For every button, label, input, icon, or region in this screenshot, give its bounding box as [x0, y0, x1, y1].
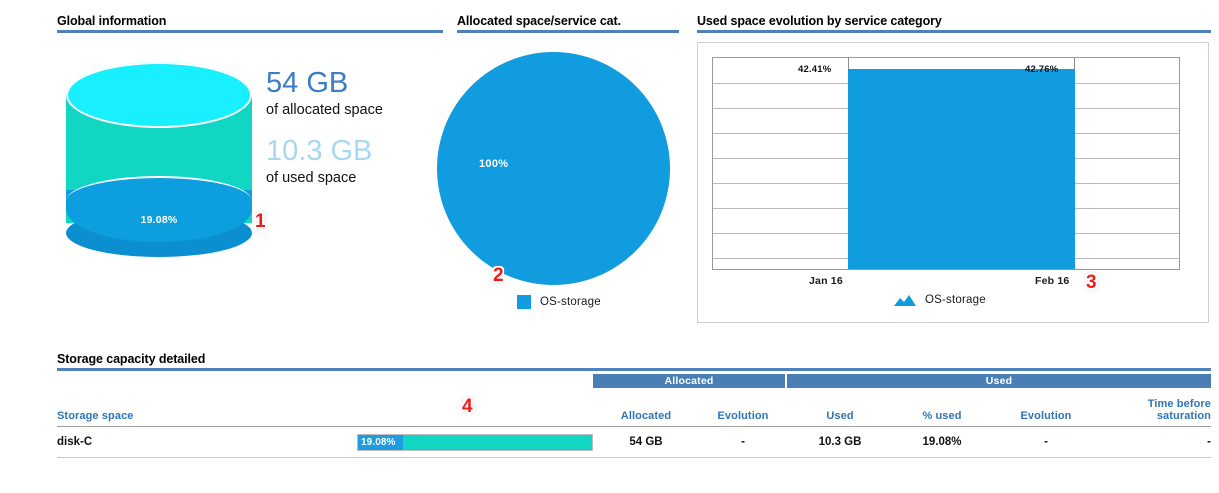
usage-progress-bar: 19.08%: [357, 434, 593, 451]
table-group-header-allocated: Allocated: [593, 374, 787, 388]
area-legend-label-os-storage: OS-storage: [925, 294, 986, 306]
cell-allocated-evolution: -: [699, 436, 787, 448]
section-title-allocated-cat: Allocated space/service cat.: [457, 14, 679, 28]
area-chart-plot-area: [712, 57, 1180, 270]
table-row[interactable]: disk-C 19.08% 54 GB - 10.3 GB 19.08% - -: [57, 427, 1211, 458]
pie-legend: OS-storage: [517, 295, 601, 309]
area-legend: OS-storage: [894, 294, 986, 306]
pie-legend-swatch-os-storage: [517, 295, 531, 309]
cell-time-before-saturation: -: [1101, 436, 1211, 448]
cylinder-percent-label: 19.08%: [66, 214, 252, 226]
cell-allocated: 54 GB: [593, 436, 699, 448]
allocated-space-stat: 54 GB of allocated space: [266, 66, 383, 118]
section-title-detailed: Storage capacity detailed: [57, 352, 1211, 366]
allocated-space-value: 54 GB: [266, 66, 383, 100]
table-column-used-evolution[interactable]: Evolution: [991, 388, 1101, 422]
section-header-global: Global information: [57, 14, 443, 33]
table-group-header-used: Used: [787, 374, 1211, 388]
cell-used-evolution: -: [991, 436, 1101, 448]
section-rule-allocated-cat: [457, 30, 679, 33]
area-point-label-jan: 42.41%: [798, 64, 831, 75]
storage-capacity-table: Allocated Used Storage space Allocated E…: [57, 374, 1211, 458]
area-point-label-feb: 42.76%: [1025, 64, 1058, 75]
used-space-stat: 10.3 GB of used space: [266, 134, 372, 186]
section-title-global: Global information: [57, 14, 443, 28]
section-header-allocated-cat: Allocated space/service cat.: [457, 14, 679, 33]
used-space-value: 10.3 GB: [266, 134, 372, 168]
section-header-detailed: Storage capacity detailed: [57, 352, 1211, 371]
allocated-space-pie-chart[interactable]: [437, 52, 670, 285]
table-column-pct-used[interactable]: % used: [893, 388, 991, 422]
cylinder-top-ellipse: [66, 62, 252, 128]
cell-usage-bar: 19.08%: [357, 434, 593, 451]
used-space-evolution-chart[interactable]: 42.41% 42.76% Jan 16 Feb 16 OS-storage: [697, 42, 1209, 323]
annotation-badge-3: 3: [1086, 272, 1097, 294]
allocated-space-caption: of allocated space: [266, 102, 383, 118]
section-rule-evolution: [697, 30, 1211, 33]
table-column-time-before-saturation[interactable]: Time before saturation: [1101, 388, 1211, 422]
annotation-badge-2: 2: [493, 265, 504, 287]
area-chart-icon: [894, 294, 916, 306]
cell-pct-used: 19.08%: [893, 436, 991, 448]
section-rule-detailed: [57, 368, 1211, 371]
pie-slice-label-os-storage: 100%: [479, 158, 508, 170]
table-header-row: Storage space Allocated Evolution Used %…: [57, 388, 1211, 426]
area-series-os-storage: [848, 69, 1075, 269]
table-column-usage-bar: [357, 388, 593, 410]
annotation-badge-1: 1: [255, 211, 266, 233]
section-rule-global: [57, 30, 443, 33]
table-group-spacer: [57, 374, 593, 388]
x-axis-tick-feb: Feb 16: [1035, 275, 1069, 287]
storage-cylinder-chart: 19.08%: [66, 62, 256, 247]
usage-bar-percent-label: 19.08%: [361, 435, 396, 450]
table-group-header-row: Allocated Used: [57, 374, 1211, 388]
section-header-evolution: Used space evolution by service category: [697, 14, 1211, 33]
table-column-storage-space[interactable]: Storage space: [57, 388, 357, 422]
pie-legend-label-os-storage: OS-storage: [540, 296, 601, 308]
x-axis-tick-jan: Jan 16: [809, 275, 843, 287]
table-column-allocated[interactable]: Allocated: [593, 388, 699, 422]
table-column-allocated-evolution[interactable]: Evolution: [699, 388, 787, 422]
section-title-evolution: Used space evolution by service category: [697, 14, 1211, 28]
used-space-caption: of used space: [266, 170, 372, 186]
table-column-used[interactable]: Used: [787, 388, 893, 422]
cell-used: 10.3 GB: [787, 436, 893, 448]
cell-storage-space: disk-C: [57, 436, 357, 448]
annotation-badge-4: 4: [462, 396, 473, 418]
